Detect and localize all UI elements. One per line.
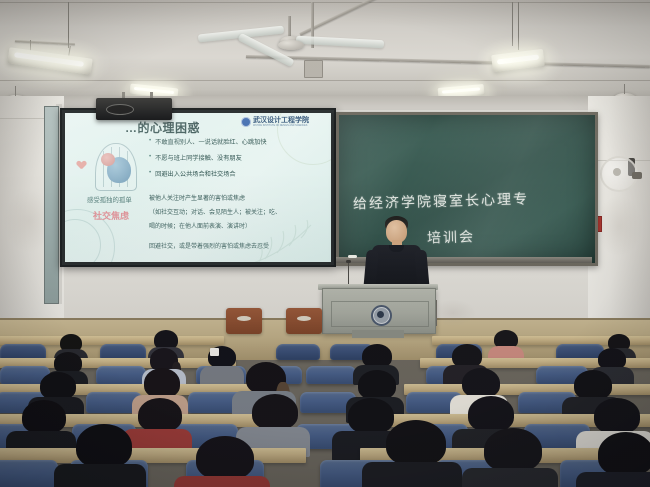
podium-base	[352, 330, 404, 338]
bullet-dot-icon: •	[149, 153, 151, 160]
bullet-dot-icon: •	[149, 137, 151, 144]
ceiling	[0, 0, 650, 104]
slide-bullet: • 不敢直视别人、一说话就脸红、心跳加快	[149, 137, 267, 146]
university-subtitle: WUHAN INSTITUTE OF DESIGN AND SCIENCES	[253, 125, 309, 127]
stage-chair-left	[226, 308, 262, 334]
illustration-caption-main: 社交焦虑	[93, 209, 129, 222]
chalk-line: 给经济学院寝室长心理专	[353, 189, 529, 214]
slide-body-line: （如社交互动；对话、会见陌生人；被关注；吃、	[149, 207, 281, 216]
lecture-hall-photo: …的心理困惑 武汉设计工程学院 WUHAN INSTITUTE OF DESIG…	[0, 0, 650, 487]
slide-university-logo: 武汉设计工程学院 WUHAN INSTITUTE OF DESIGN AND S…	[241, 117, 309, 127]
chalk-line: 培训会	[427, 226, 476, 247]
university-seal-icon	[241, 117, 251, 127]
bullet-dot-icon: •	[149, 169, 151, 176]
slide-title: …的心理困惑	[125, 119, 200, 136]
slide-body-line: 喝的时候；在他人面前表演、演讲时）	[149, 221, 251, 230]
university-crest-icon	[371, 305, 392, 326]
seat	[0, 460, 58, 487]
projection-screen: …的心理困惑 武汉设计工程学院 WUHAN INSTITUTE OF DESIG…	[60, 108, 336, 267]
window-left	[44, 106, 59, 304]
slide-body-line: 回避社交，或是带着强烈的害怕或焦虑去忍受	[149, 241, 269, 250]
slide-bullet: • 回避出入公共场合和社交场合	[149, 169, 236, 178]
seat	[306, 366, 356, 384]
projector	[96, 98, 172, 120]
slide-bullet: • 不愿与班上同学接触、没有朋友	[149, 153, 242, 162]
seat	[276, 344, 320, 360]
seat	[96, 366, 146, 384]
projector-lens-icon	[106, 104, 134, 115]
slide-body-line: 被他人关注时产生显著的害怕或焦虑	[149, 193, 245, 202]
hair-clip	[210, 348, 219, 356]
stage-chair-right	[286, 308, 322, 334]
heart-icon	[77, 161, 86, 169]
presentation-slide: …的心理困惑 武汉设计工程学院 WUHAN INSTITUTE OF DESIG…	[65, 113, 331, 262]
illustration-caption-small: 感受孤独的孤单	[87, 195, 132, 204]
university-name: 武汉设计工程学院	[253, 117, 309, 124]
lectern	[322, 288, 436, 334]
